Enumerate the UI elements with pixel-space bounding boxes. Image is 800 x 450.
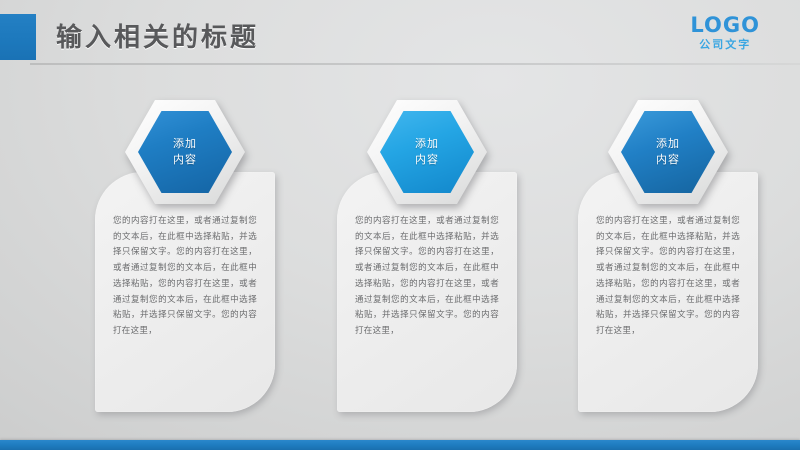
logo-sub-text: 公司文字 [690, 39, 760, 50]
hexagon-label-line2: 内容 [173, 152, 197, 168]
hexagon-label-line1: 添加 [173, 136, 197, 152]
logo: LOGO 公司文字 [690, 15, 760, 50]
card-body-text: 您的内容打在这里，或者通过复制您的文本后，在此框中选择粘贴，并选择只保留文字。您… [355, 214, 499, 340]
hexagon-label: 添加 内容 [138, 111, 232, 193]
hexagon-badge[interactable]: 添加 内容 [367, 100, 487, 204]
hexagon-badge[interactable]: 添加 内容 [125, 100, 245, 204]
hexagon-label: 添加 内容 [621, 111, 715, 193]
slide-header: 输入相关的标题 [0, 0, 800, 70]
hexagon-label-line2: 内容 [415, 152, 439, 168]
hexagon-badge[interactable]: 添加 内容 [608, 100, 728, 204]
footer-bar [0, 440, 800, 450]
page-title: 输入相关的标题 [56, 17, 259, 54]
logo-main-text: LOGO [690, 15, 760, 36]
content-card[interactable]: 您的内容打在这里，或者通过复制您的文本后，在此框中选择粘贴，并选择只保留文字。您… [337, 172, 517, 412]
card-body-text: 您的内容打在这里，或者通过复制您的文本后，在此框中选择粘贴，并选择只保留文字。您… [596, 214, 740, 340]
content-card[interactable]: 您的内容打在这里，或者通过复制您的文本后，在此框中选择粘贴，并选择只保留文字。您… [95, 172, 275, 412]
card-body-text: 您的内容打在这里，或者通过复制您的文本后，在此框中选择粘贴，并选择只保留文字。您… [113, 214, 257, 340]
hexagon-label-line1: 添加 [656, 136, 680, 152]
header-divider [30, 63, 800, 65]
hexagon-label: 添加 内容 [380, 111, 474, 193]
hexagon-label-line2: 内容 [656, 152, 680, 168]
title-accent-bar [0, 14, 36, 60]
content-card[interactable]: 您的内容打在这里，或者通过复制您的文本后，在此框中选择粘贴，并选择只保留文字。您… [578, 172, 758, 412]
slide-canvas: 输入相关的标题 LOGO 公司文字 您的内容打在这里，或者通过复制您的文本后，在… [0, 0, 800, 450]
hexagon-label-line1: 添加 [415, 136, 439, 152]
